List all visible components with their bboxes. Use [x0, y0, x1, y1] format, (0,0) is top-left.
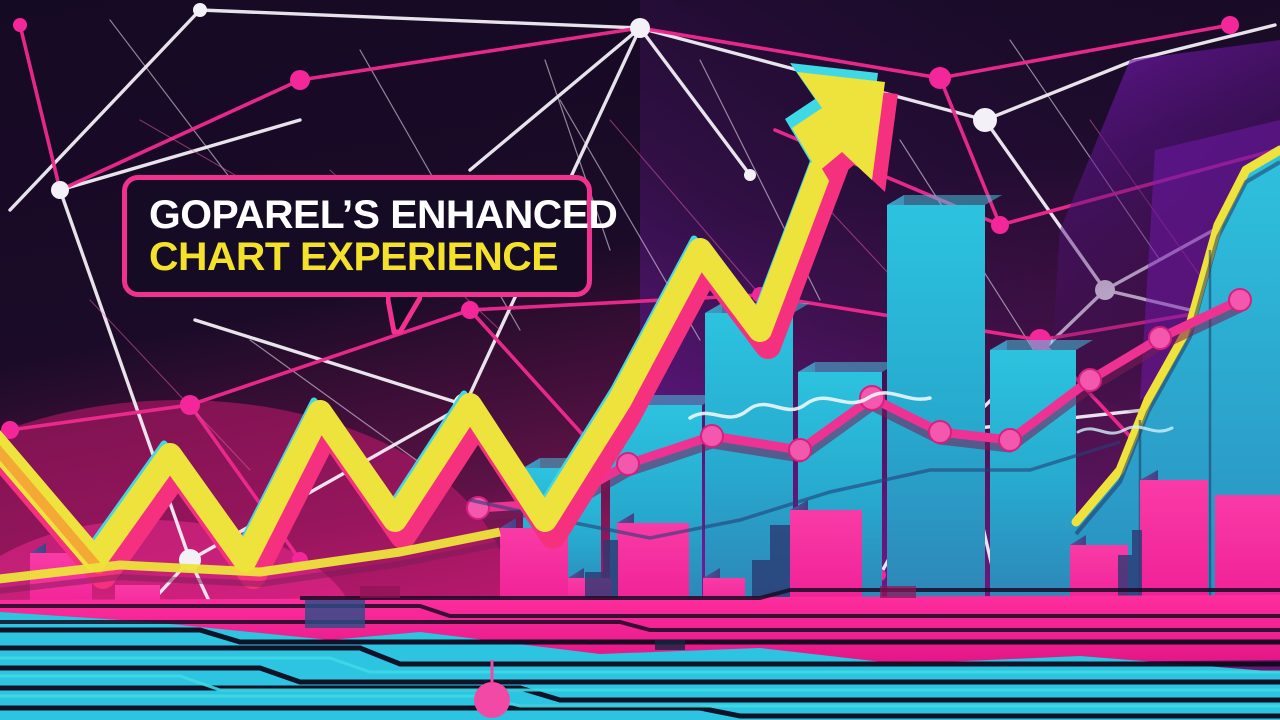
- title-line-primary: GOPAREL’S ENHANCED: [149, 194, 617, 236]
- circuit-chip: [360, 586, 400, 598]
- circuit-node: [474, 682, 510, 718]
- circuit-trace-floor: [0, 586, 1280, 720]
- circuit-chip: [655, 640, 685, 650]
- poster-canvas: GOPAREL’S ENHANCED CHART EXPERIENCE: [0, 0, 1280, 720]
- cyan-bar: [887, 205, 985, 600]
- left-chip-block: [305, 600, 365, 628]
- speech-bubble-tail: [386, 292, 422, 334]
- title-line-secondary: CHART EXPERIENCE: [149, 236, 558, 278]
- artwork-layer: [0, 0, 1280, 720]
- cyan-bar: [990, 350, 1076, 600]
- title-speech-bubble: GOPAREL’S ENHANCED CHART EXPERIENCE: [122, 175, 592, 297]
- circuit-chip: [880, 586, 916, 598]
